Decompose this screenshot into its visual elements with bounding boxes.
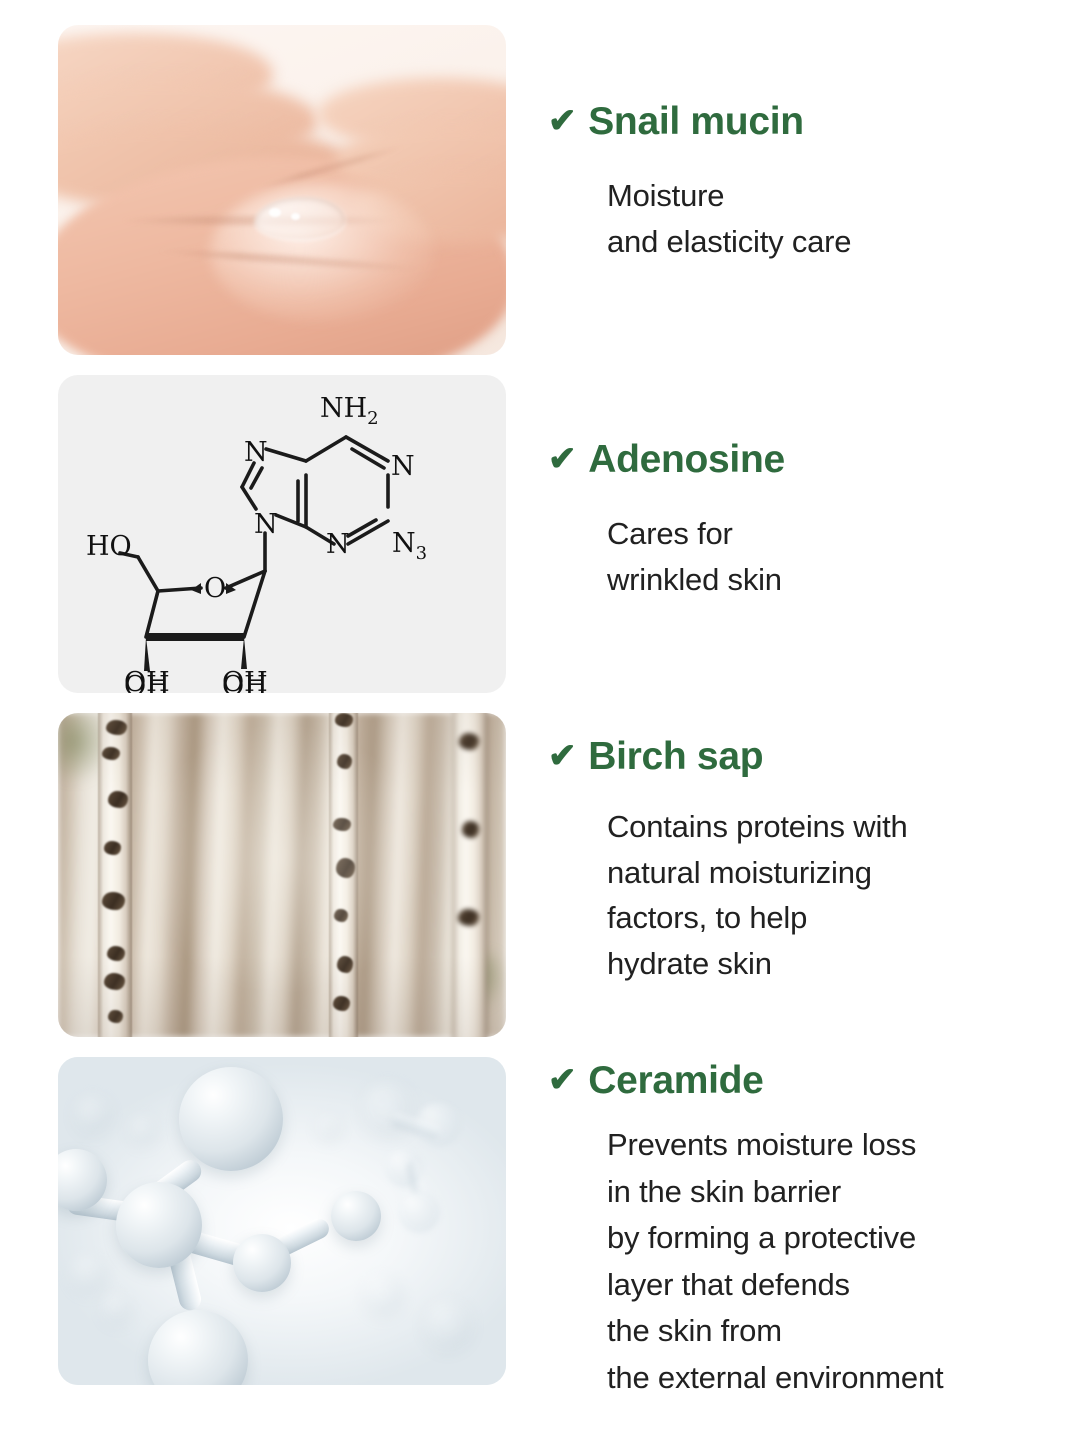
label-N: N (254, 509, 278, 540)
label-NH2: NH2 (320, 393, 379, 429)
label-N: N (391, 451, 415, 482)
serum-highlight (291, 213, 300, 220)
svg-text:OH: OH (124, 667, 170, 693)
ingredient-title: Snail mucin (588, 100, 804, 143)
molecule-atom (425, 1300, 471, 1346)
ingredient-benefits-infographic: ✔Snail mucin Moisture and elasticity car… (0, 0, 1080, 1440)
ingredient-copy-ceramide: ✔Ceramide Prevents moisture loss in the … (548, 1061, 1058, 1401)
ingredient-copy-birch-sap: ✔Birch sap Contains proteins with natura… (548, 737, 1058, 986)
molecule-atom (116, 1182, 202, 1268)
ingredient-heading: ✔Ceramide (548, 1061, 1058, 1100)
ingredient-copy-adenosine: ✔Adenosine Cares for wrinkled skin (548, 440, 1048, 602)
molecule-atom (179, 1067, 283, 1171)
birch-depth-overlay (58, 713, 506, 1037)
molecule-atom (103, 1293, 131, 1321)
check-icon: ✔ (548, 1063, 576, 1097)
label-N: N (326, 529, 350, 560)
ingredient-title: Ceramide (588, 1059, 763, 1102)
check-icon: ✔ (548, 104, 576, 138)
ingredient-description: Moisture and elasticity care (607, 173, 1048, 264)
ingredient-description: Contains proteins with natural moisturiz… (607, 804, 1058, 986)
label-N: N (244, 437, 268, 468)
check-icon: ✔ (548, 739, 576, 773)
adenosine-chemical-structure-diagram: NH2 N N N N N3 HO O OH OH OH OH (58, 375, 506, 693)
label-O: O (204, 573, 226, 604)
adenosine-structure-svg: NH2 N N N N N3 HO O OH OH OH OH (58, 375, 506, 693)
molecule-atom (71, 1254, 107, 1290)
ingredient-copy-snail-mucin: ✔Snail mucin Moisture and elasticity car… (548, 102, 1048, 264)
check-icon: ✔ (548, 442, 576, 476)
ingredient-title: Adenosine (588, 438, 785, 481)
svg-text:OH: OH (222, 667, 268, 693)
molecule-atom (130, 1116, 156, 1142)
ingredient-heading: ✔Birch sap (548, 737, 1058, 776)
birch-tree-trunks-photo (58, 713, 506, 1037)
ingredient-heading: ✔Snail mucin (548, 102, 1048, 141)
molecule-3d-render (58, 1057, 506, 1385)
serum-highlight (269, 208, 281, 217)
ingredient-title: Birch sap (588, 735, 763, 778)
label-HO: HO (86, 531, 132, 562)
label-N3: N3 (392, 528, 427, 564)
molecule-atom (363, 1273, 403, 1313)
ingredient-description: Prevents moisture loss in the skin barri… (607, 1122, 1058, 1401)
ingredient-heading: ✔Adenosine (548, 440, 1048, 479)
ingredient-description: Cares for wrinkled skin (607, 511, 1048, 602)
molecule-atom (233, 1234, 291, 1292)
hand-with-serum-drop-photo (58, 25, 506, 355)
molecule-atom (318, 1116, 340, 1138)
